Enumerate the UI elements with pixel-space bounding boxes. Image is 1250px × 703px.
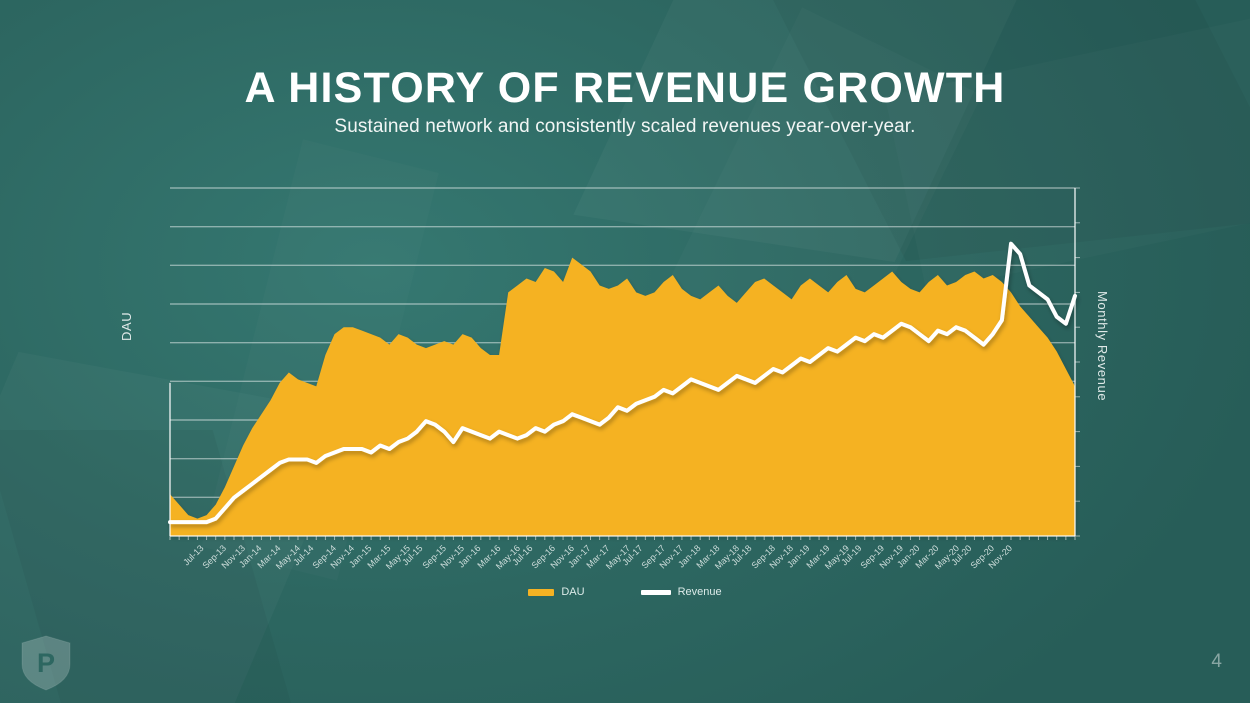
slide: A HISTORY OF REVENUE GROWTH Sustained ne… [0, 0, 1250, 703]
dau-area-series [170, 258, 1075, 536]
legend-swatch-dau [528, 589, 554, 596]
logo-letter: P [37, 648, 55, 678]
chart-series-layer [170, 244, 1075, 536]
legend-label: DAU [561, 586, 584, 598]
legend-item-revenue[interactable]: Revenue [641, 586, 722, 598]
y-axis-left-title: DAU [119, 312, 134, 341]
legend-label: Revenue [678, 586, 722, 598]
company-logo: P [18, 634, 74, 692]
y-axis-right-title: Monthly Revenue [1095, 291, 1110, 401]
page-number: 4 [1211, 651, 1222, 673]
legend-item-dau[interactable]: DAU [528, 586, 584, 598]
chart-legend: DAURevenue [0, 586, 1250, 598]
legend-swatch-revenue [641, 590, 671, 595]
